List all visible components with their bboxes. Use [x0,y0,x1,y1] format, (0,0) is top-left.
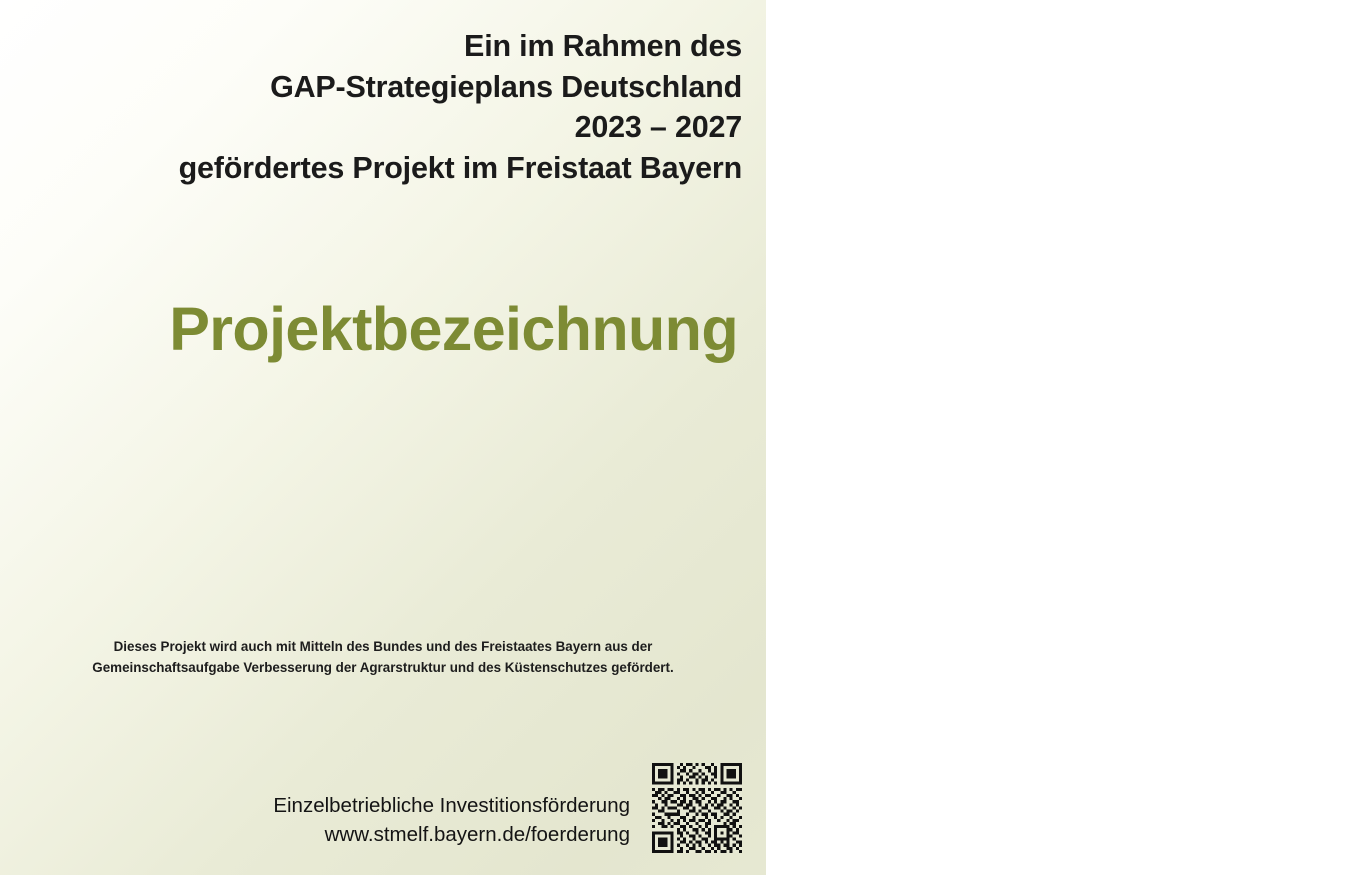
programme-url[interactable]: www.stmelf.bayern.de/foerderung [273,821,630,849]
right-panel: Gefördert durch Bayerisches Staatsminist… [766,0,1352,875]
project-title: Projektbezeichnung [28,296,738,363]
qr-code-icon[interactable] [652,763,742,853]
headline-line-1: Ein im Rahmen des [24,26,742,67]
fineprint-line-2: Gemeinschaftsaufgabe Verbesserung der Ag… [22,658,744,679]
footer-text: Einzelbetriebliche Investitionsförderung… [273,792,630,853]
headline-line-2: GAP-Strategieplans Deutschland [24,67,742,108]
footer-row: Einzelbetriebliche Investitionsförderung… [24,763,742,853]
programme-name: Einzelbetriebliche Investitionsförderung [273,792,630,820]
headline: Ein im Rahmen des GAP-Strategieplans Deu… [24,26,742,188]
headline-line-4: gefördertes Projekt im Freistaat Bayern [24,148,742,189]
funding-fineprint: Dieses Projekt wird auch mit Mitteln des… [22,637,744,679]
funding-poster: Ein im Rahmen des GAP-Strategieplans Deu… [0,0,1352,875]
headline-line-3: 2023 – 2027 [24,107,742,148]
fineprint-line-1: Dieses Projekt wird auch mit Mitteln des… [22,637,744,658]
left-panel: Ein im Rahmen des GAP-Strategieplans Deu… [0,0,766,875]
